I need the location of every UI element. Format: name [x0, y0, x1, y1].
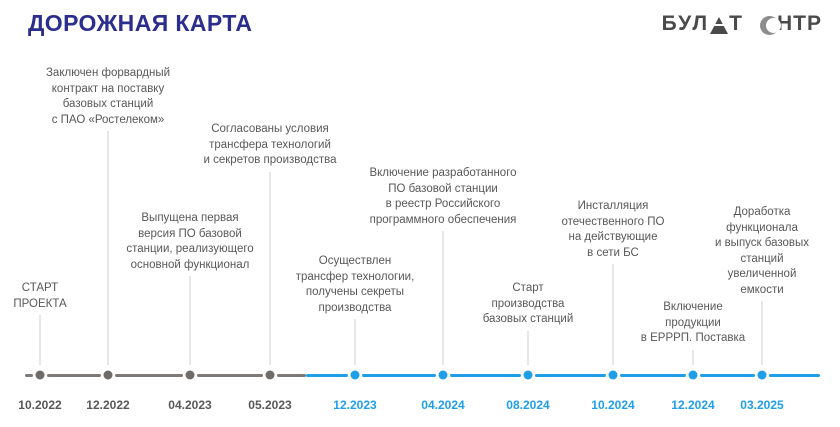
milestone-connector: [443, 231, 444, 365]
timeline-segment-future: [306, 374, 348, 377]
timeline-dot[interactable]: [186, 371, 195, 380]
milestone-label: Включение продукции в ЕРРРП. Поставка: [613, 300, 773, 347]
timeline-segment-past: [47, 374, 101, 377]
timeline-segment-past: [115, 374, 183, 377]
timeline-dot[interactable]: [351, 371, 360, 380]
milestone-date: 08.2024: [506, 398, 549, 412]
timeline-dot[interactable]: [609, 371, 618, 380]
milestone-date: 12.2024: [671, 398, 714, 412]
milestone-date: 03.2025: [740, 398, 783, 412]
milestone-label: Включение разработанного ПО базовой стан…: [346, 166, 541, 228]
milestone-label: Выпущена первая версия ПО базовой станци…: [100, 211, 280, 273]
milestone-connector: [355, 319, 356, 365]
timeline-segment-future: [450, 374, 521, 377]
milestone-connector: [528, 331, 529, 366]
milestone-label: Осуществлен трансфер технологии, получен…: [280, 254, 430, 316]
milestone-label: СТАРТ ПРОЕКТА: [0, 281, 85, 312]
timeline-dot[interactable]: [266, 371, 275, 380]
milestone-label: Согласованы условия трансфера технологий…: [183, 122, 358, 169]
timeline-dot[interactable]: [524, 371, 533, 380]
timeline-dot[interactable]: [36, 371, 45, 380]
milestone-connector: [693, 350, 694, 366]
milestone-date: 04.2024: [421, 398, 464, 412]
timeline-segment-future: [362, 374, 436, 377]
milestone-connector: [40, 315, 41, 365]
timeline-segment-future: [620, 374, 686, 377]
milestone-label: Инсталляция отечественного ПО на действу…: [538, 199, 688, 261]
milestone-date: 12.2023: [333, 398, 376, 412]
timeline-segment-future: [769, 374, 820, 377]
milestone-label: Заключен форвардный контракт на поставку…: [21, 66, 196, 128]
milestone-connector: [270, 172, 271, 366]
milestone-date: 10.2024: [591, 398, 634, 412]
timeline-segment-future: [700, 374, 755, 377]
milestone-connector: [190, 276, 191, 365]
timeline-axis: СТАРТ ПРОЕКТА10.2022Заключен форвардный …: [0, 0, 840, 427]
milestone-label: Старт производства базовых станций: [463, 281, 593, 328]
milestone-date: 05.2023: [248, 398, 291, 412]
milestone-date: 12.2022: [86, 398, 129, 412]
timeline-segment-past: [197, 374, 263, 377]
timeline-dot[interactable]: [689, 371, 698, 380]
timeline-segment-past: [25, 374, 33, 377]
milestone-label: Доработка функционала и выпуск базовых с…: [702, 205, 822, 298]
timeline-dot[interactable]: [758, 371, 767, 380]
milestone-date: 04.2023: [168, 398, 211, 412]
timeline-segment-past: [277, 374, 306, 377]
timeline-dot[interactable]: [104, 371, 113, 380]
roadmap-infographic: ДОРОЖНАЯ КАРТА БУЛT НТР СТАРТ ПРОЕКТА10.…: [0, 0, 840, 427]
milestone-date: 10.2022: [18, 398, 61, 412]
milestone-connector: [762, 301, 763, 365]
timeline-dot[interactable]: [439, 371, 448, 380]
timeline-segment-future: [535, 374, 606, 377]
